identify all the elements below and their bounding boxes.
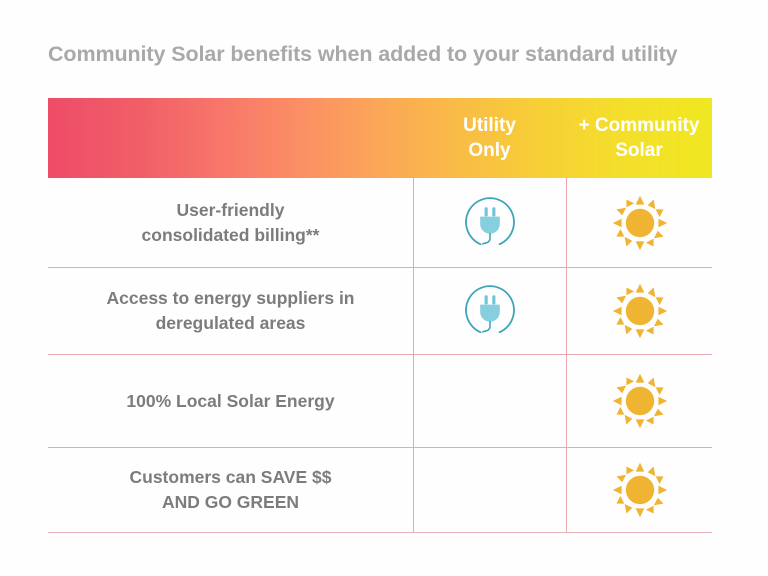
table-header-utility-only: Utility Only xyxy=(413,98,566,178)
empty-marker xyxy=(462,462,518,518)
table-header-blank xyxy=(48,98,413,178)
sun-icon xyxy=(612,462,668,518)
table-body: User-friendly consolidated billing** xyxy=(48,178,712,533)
table-header-row: Utility Only + Community Solar xyxy=(48,98,712,178)
benefit-label-line1: User-friendly xyxy=(177,200,285,220)
header-community-line1: + Community xyxy=(579,113,700,138)
community-solar-cell xyxy=(566,268,712,354)
community-solar-cell xyxy=(566,178,712,267)
utility-only-cell xyxy=(413,268,566,354)
benefits-comparison-table: Utility Only + Community Solar User-frie… xyxy=(48,98,712,534)
page-title: Community Solar benefits when added to y… xyxy=(48,42,738,67)
table-row: User-friendly consolidated billing** xyxy=(48,178,712,268)
table-header-community-solar: + Community Solar xyxy=(566,98,712,178)
table-row: 100% Local Solar Energy xyxy=(48,355,712,448)
plug-icon xyxy=(462,283,518,339)
community-solar-cell xyxy=(566,448,712,532)
utility-only-cell xyxy=(413,178,566,267)
table-row: Customers can SAVE $$ AND GO GREEN xyxy=(48,448,712,533)
header-utility-line2: Only xyxy=(468,138,510,163)
benefit-label-cell: 100% Local Solar Energy xyxy=(48,355,413,447)
utility-only-cell xyxy=(413,448,566,532)
infographic-page: Community Solar benefits when added to y… xyxy=(0,0,768,576)
benefit-label-line1: Customers can SAVE $$ xyxy=(130,467,332,487)
benefit-label-cell: Access to energy suppliers in deregulate… xyxy=(48,268,413,354)
benefit-label-line1: 100% Local Solar Energy xyxy=(126,391,334,411)
header-community-line2: Solar xyxy=(615,138,663,163)
header-utility-line1: Utility xyxy=(463,113,516,138)
benefit-label-line1: Access to energy suppliers in xyxy=(106,288,354,308)
empty-marker xyxy=(462,373,518,429)
benefit-label-cell: Customers can SAVE $$ AND GO GREEN xyxy=(48,448,413,532)
utility-only-cell xyxy=(413,355,566,447)
sun-icon xyxy=(612,283,668,339)
benefit-label-line2: AND GO GREEN xyxy=(162,492,299,512)
benefit-label-cell: User-friendly consolidated billing** xyxy=(48,178,413,267)
plug-icon xyxy=(462,195,518,251)
sun-icon xyxy=(612,195,668,251)
sun-icon xyxy=(612,373,668,429)
benefit-label-line2: deregulated areas xyxy=(156,313,306,333)
table-row: Access to energy suppliers in deregulate… xyxy=(48,268,712,355)
benefit-label-line2: consolidated billing** xyxy=(142,225,320,245)
community-solar-cell xyxy=(566,355,712,447)
